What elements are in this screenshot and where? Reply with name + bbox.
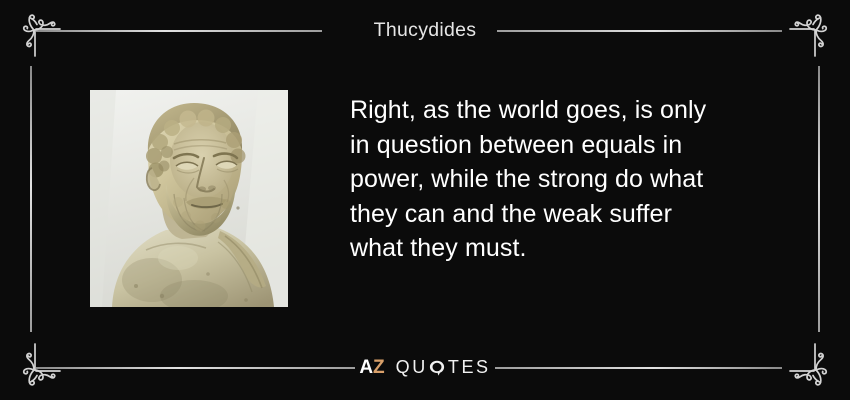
author-name: Thucydides (0, 18, 850, 42)
quote-line: they can and the weak suffer (350, 197, 790, 232)
brand-letter-a: A (359, 357, 373, 378)
brand-quotes-pre: QU (396, 357, 428, 377)
quote-card: Thucydides (0, 0, 850, 400)
speech-bubble-icon (429, 360, 445, 376)
brand-quotes-post: TES (448, 357, 491, 377)
brand-logo[interactable]: AZQU TES (0, 356, 850, 380)
brand-logo-inner: AZQU TES (359, 356, 490, 380)
author-portrait-image (90, 90, 288, 307)
quote-text: Right, as the world goes, is only in que… (350, 93, 790, 266)
quote-line: power, while the strong do what (350, 162, 790, 197)
quote-line: what they must. (350, 231, 790, 266)
quote-line: Right, as the world goes, is only (350, 93, 790, 128)
frame-line-left (30, 66, 32, 332)
brand-letter-z: Z (373, 357, 385, 378)
frame-line-right (818, 66, 820, 332)
quote-line: in question between equals in (350, 128, 790, 163)
